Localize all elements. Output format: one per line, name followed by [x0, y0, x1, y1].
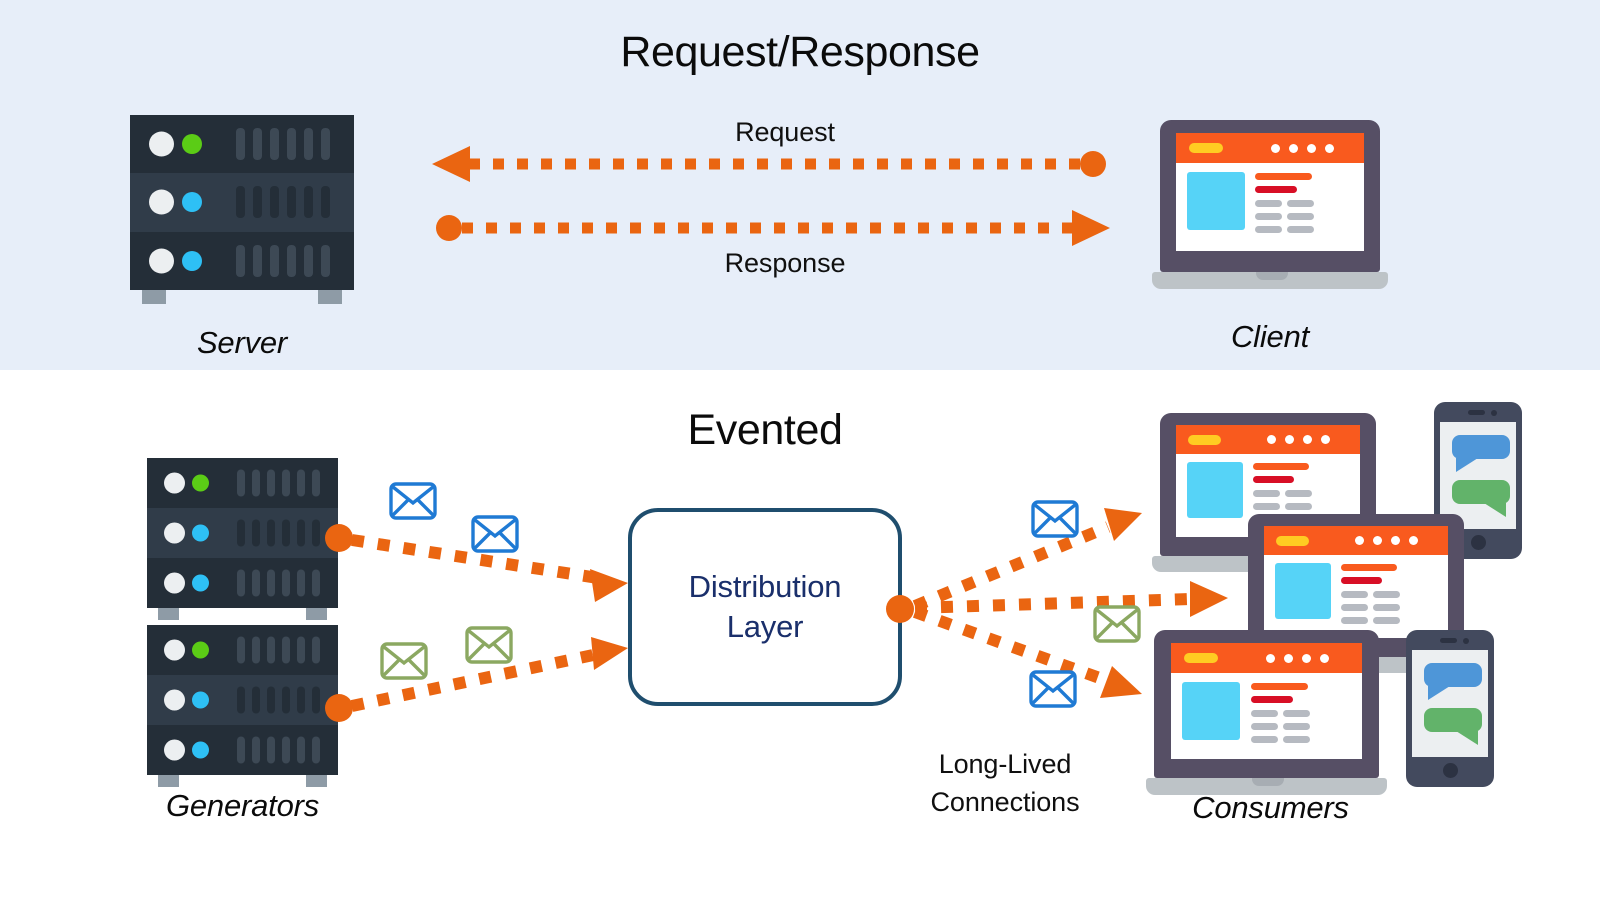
- url-pill: [1276, 536, 1309, 546]
- browser-topbar: [1264, 526, 1448, 555]
- server-rack-icon: [147, 625, 338, 775]
- envelope-icon: [1093, 605, 1141, 643]
- request-flow-label: Request: [640, 117, 930, 148]
- server-body: [147, 625, 338, 775]
- chat-bubble-outgoing: [1452, 480, 1510, 504]
- content-bar: [1283, 710, 1310, 717]
- content-bar: [1253, 503, 1280, 510]
- topbar-dots: [1355, 536, 1418, 545]
- server-body: [130, 115, 354, 290]
- content-bar: [1287, 226, 1314, 233]
- envelope-icon: [1029, 670, 1077, 708]
- content-thumbnail: [1275, 563, 1331, 619]
- server-unit: [147, 458, 338, 508]
- server-unit: [130, 115, 354, 173]
- browser-topbar: [1171, 643, 1362, 673]
- client-label: Client: [1152, 319, 1388, 355]
- url-pill: [1189, 143, 1223, 153]
- content-bar: [1251, 696, 1293, 703]
- chat-bubble-incoming: [1452, 435, 1510, 459]
- server-unit: [147, 725, 338, 775]
- server-led-white: [149, 248, 174, 273]
- url-pill: [1188, 435, 1221, 445]
- distribution-layer-line1: Distribution: [689, 567, 842, 607]
- server-led-blue: [182, 251, 202, 271]
- topbar-dots: [1271, 144, 1334, 153]
- content-thumbnail: [1187, 462, 1243, 518]
- content-bar: [1251, 683, 1308, 690]
- server-unit: [130, 173, 354, 231]
- server-led-blue: [182, 192, 202, 212]
- content-bar: [1251, 736, 1278, 743]
- content-bar: [1255, 173, 1312, 180]
- phone-speaker: [1440, 638, 1457, 643]
- long-lived-connections-label: Long-Lived Connections: [900, 745, 1110, 822]
- laptop-notch: [1256, 272, 1288, 280]
- laptop-screen: [1264, 526, 1448, 638]
- content-bar: [1373, 591, 1400, 598]
- envelope-icon: [471, 515, 519, 553]
- laptop-screen: [1176, 133, 1364, 251]
- phone-camera: [1491, 410, 1497, 416]
- content-bar: [1255, 226, 1282, 233]
- server-rack-icon: [130, 115, 354, 290]
- chat-bubble-outgoing: [1424, 708, 1482, 732]
- content-bar: [1285, 503, 1312, 510]
- laptop-icon: [1152, 120, 1388, 290]
- url-pill: [1184, 653, 1218, 663]
- content-thumbnail: [1182, 682, 1240, 740]
- content-bar: [1253, 463, 1309, 470]
- server-led-white: [149, 132, 174, 157]
- server-label: Server: [130, 325, 354, 361]
- content-bar: [1253, 476, 1294, 483]
- content-bar: [1287, 200, 1314, 207]
- phone-screen: [1440, 422, 1516, 529]
- server-rack-icon: [147, 458, 338, 608]
- server-unit: [147, 675, 338, 725]
- browser-topbar: [1176, 425, 1360, 454]
- topbar-dots: [1267, 435, 1330, 444]
- chat-bubble-incoming: [1424, 663, 1482, 687]
- content-bar: [1255, 213, 1282, 220]
- distribution-layer-box: Distribution Layer: [628, 508, 902, 706]
- content-bar: [1251, 723, 1278, 730]
- envelope-icon: [1031, 500, 1079, 538]
- content-bar: [1341, 604, 1368, 611]
- consumers-label: Consumers: [1150, 790, 1391, 826]
- connections-label-line2: Connections: [900, 783, 1110, 821]
- server-leg: [142, 290, 166, 304]
- content-bar: [1373, 617, 1400, 624]
- content-bar: [1251, 710, 1278, 717]
- content-bar: [1285, 490, 1312, 497]
- content-bar: [1283, 723, 1310, 730]
- server-led-white: [149, 190, 174, 215]
- content-bar: [1341, 577, 1382, 584]
- content-bar: [1373, 604, 1400, 611]
- server-vents: [236, 186, 330, 218]
- server-unit: [147, 508, 338, 558]
- generators-label: Generators: [147, 788, 338, 824]
- server-unit: [147, 625, 338, 675]
- smartphone-icon: [1406, 630, 1494, 787]
- request-response-title: Request/Response: [0, 28, 1600, 77]
- content-bar: [1255, 186, 1297, 193]
- phone-camera: [1463, 638, 1469, 644]
- server-vents: [236, 128, 330, 160]
- phone-home-button: [1443, 763, 1458, 778]
- response-flow-label: Response: [640, 248, 930, 279]
- server-unit: [130, 232, 354, 290]
- phone-speaker: [1468, 410, 1485, 415]
- content-bar: [1341, 564, 1397, 571]
- server-leg: [318, 290, 342, 304]
- laptop-screen: [1171, 643, 1362, 759]
- content-bar: [1253, 490, 1280, 497]
- phone-home-button: [1471, 535, 1486, 550]
- laptop-icon: [1146, 630, 1387, 795]
- laptop-notch: [1252, 778, 1284, 786]
- content-bar: [1255, 200, 1282, 207]
- server-unit: [147, 558, 338, 608]
- content-bar: [1341, 591, 1368, 598]
- browser-content: [1176, 163, 1364, 251]
- content-thumbnail: [1187, 172, 1245, 230]
- diagram-canvas: Request/Response: [0, 0, 1600, 900]
- browser-content: [1264, 555, 1448, 638]
- browser-content: [1171, 673, 1362, 759]
- server-led-green: [182, 134, 202, 154]
- topbar-dots: [1266, 654, 1329, 663]
- browser-topbar: [1176, 133, 1364, 163]
- distribution-layer-text: Distribution Layer: [689, 567, 842, 648]
- server-body: [147, 458, 338, 608]
- distribution-layer-line2: Layer: [689, 607, 842, 647]
- server-vents: [236, 245, 330, 277]
- envelope-icon: [380, 642, 428, 680]
- connections-label-line1: Long-Lived: [900, 745, 1110, 783]
- envelope-icon: [465, 626, 513, 664]
- content-bar: [1287, 213, 1314, 220]
- content-bar: [1341, 617, 1368, 624]
- envelope-icon: [389, 482, 437, 520]
- phone-screen: [1412, 650, 1488, 757]
- content-bar: [1283, 736, 1310, 743]
